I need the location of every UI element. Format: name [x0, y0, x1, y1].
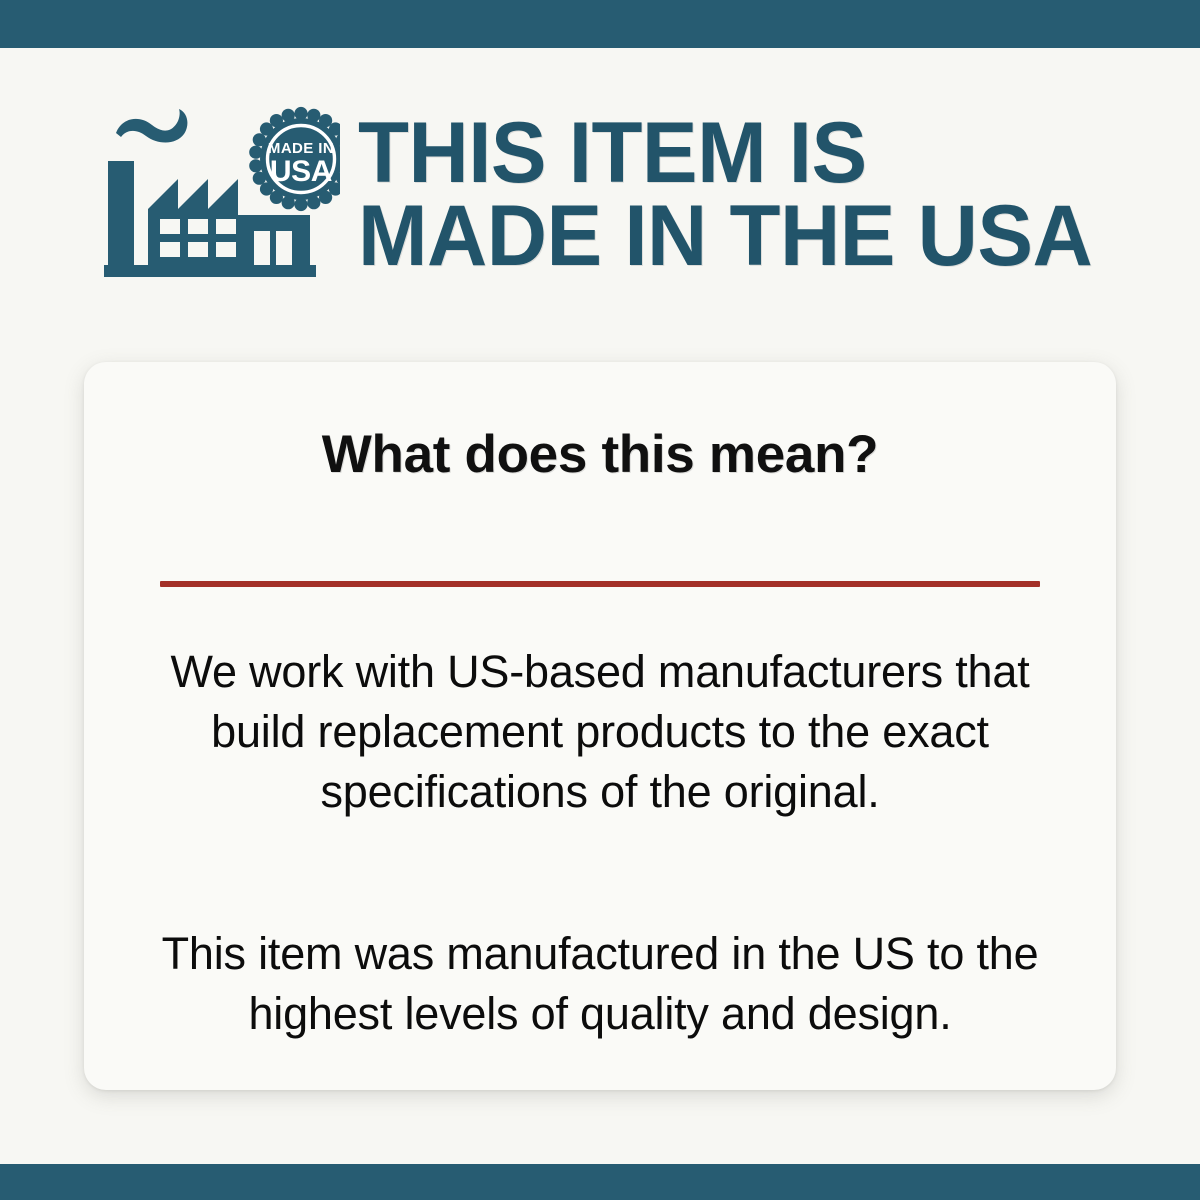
page-title: THIS ITEM IS MADE IN THE USA	[358, 112, 1092, 279]
headline-line-2: MADE IN THE USA	[358, 195, 1092, 278]
bottom-brand-bar	[0, 1164, 1200, 1200]
card-title: What does this mean?	[84, 424, 1116, 485]
top-brand-bar	[0, 0, 1200, 48]
made-in-usa-logo: MADE IN USA	[100, 103, 340, 288]
made-in-usa-badge-icon: MADE IN USA	[249, 106, 340, 210]
info-card: What does this mean? We work with US-bas…	[84, 362, 1116, 1090]
chimney-icon	[108, 161, 134, 265]
page-canvas: MADE IN USA THIS ITEM IS MADE IN THE USA…	[0, 48, 1200, 1164]
factory-base-icon	[104, 265, 316, 277]
header: MADE IN USA THIS ITEM IS MADE IN THE USA	[100, 100, 1160, 290]
badge-line2-text: USA	[270, 155, 332, 188]
factory-annex-icon	[238, 215, 310, 265]
card-paragraph-1: We work with US-based manufacturers that…	[144, 642, 1056, 822]
card-paragraph-2: This item was manufactured in the US to …	[144, 924, 1056, 1044]
card-divider	[160, 581, 1040, 587]
headline-line-1: THIS ITEM IS	[358, 112, 1092, 195]
smoke-icon	[116, 109, 187, 143]
